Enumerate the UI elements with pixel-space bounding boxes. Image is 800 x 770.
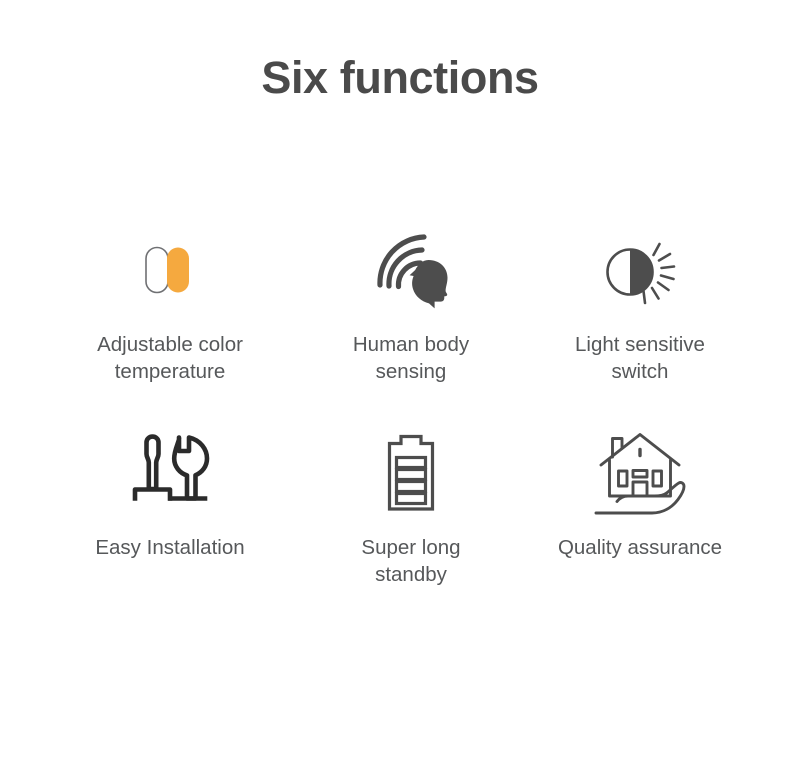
feature-label: Super long standby	[361, 534, 460, 588]
features-row-bottom: Easy Installation	[40, 418, 760, 588]
feature-item-quality-assurance: Quality assurance	[520, 418, 760, 561]
motion-sensor-head-icon	[368, 215, 454, 325]
feature-item-human-body-sensing: Human body sensing	[291, 215, 531, 385]
feature-label: Quality assurance	[558, 534, 722, 561]
feature-item-super-long-standby: Super long standby	[291, 418, 531, 588]
light-sensor-sun-icon	[596, 215, 684, 325]
feature-label: Light sensitive switch	[575, 331, 705, 385]
feature-label: Adjustable color temperature	[97, 331, 243, 385]
color-temperature-pills-icon	[139, 215, 201, 325]
features-row-top: Adjustable color temperature Human body …	[40, 215, 760, 385]
feature-label: Human body sensing	[353, 331, 469, 385]
battery-icon	[376, 418, 446, 528]
feature-item-adjustable-color-temperature: Adjustable color temperature	[50, 215, 290, 385]
feature-highlights-page: Six functions Adjustable color temperatu…	[0, 0, 800, 770]
features-grid: Adjustable color temperature Human body …	[40, 215, 760, 588]
house-in-hand-icon	[590, 418, 690, 528]
feature-item-light-sensitive-switch: Light sensitive switch	[520, 215, 760, 385]
screwdriver-wrench-icon	[127, 418, 213, 528]
feature-item-easy-installation: Easy Installation	[50, 418, 290, 561]
feature-label: Easy Installation	[95, 534, 244, 561]
page-title: Six functions	[0, 52, 800, 104]
